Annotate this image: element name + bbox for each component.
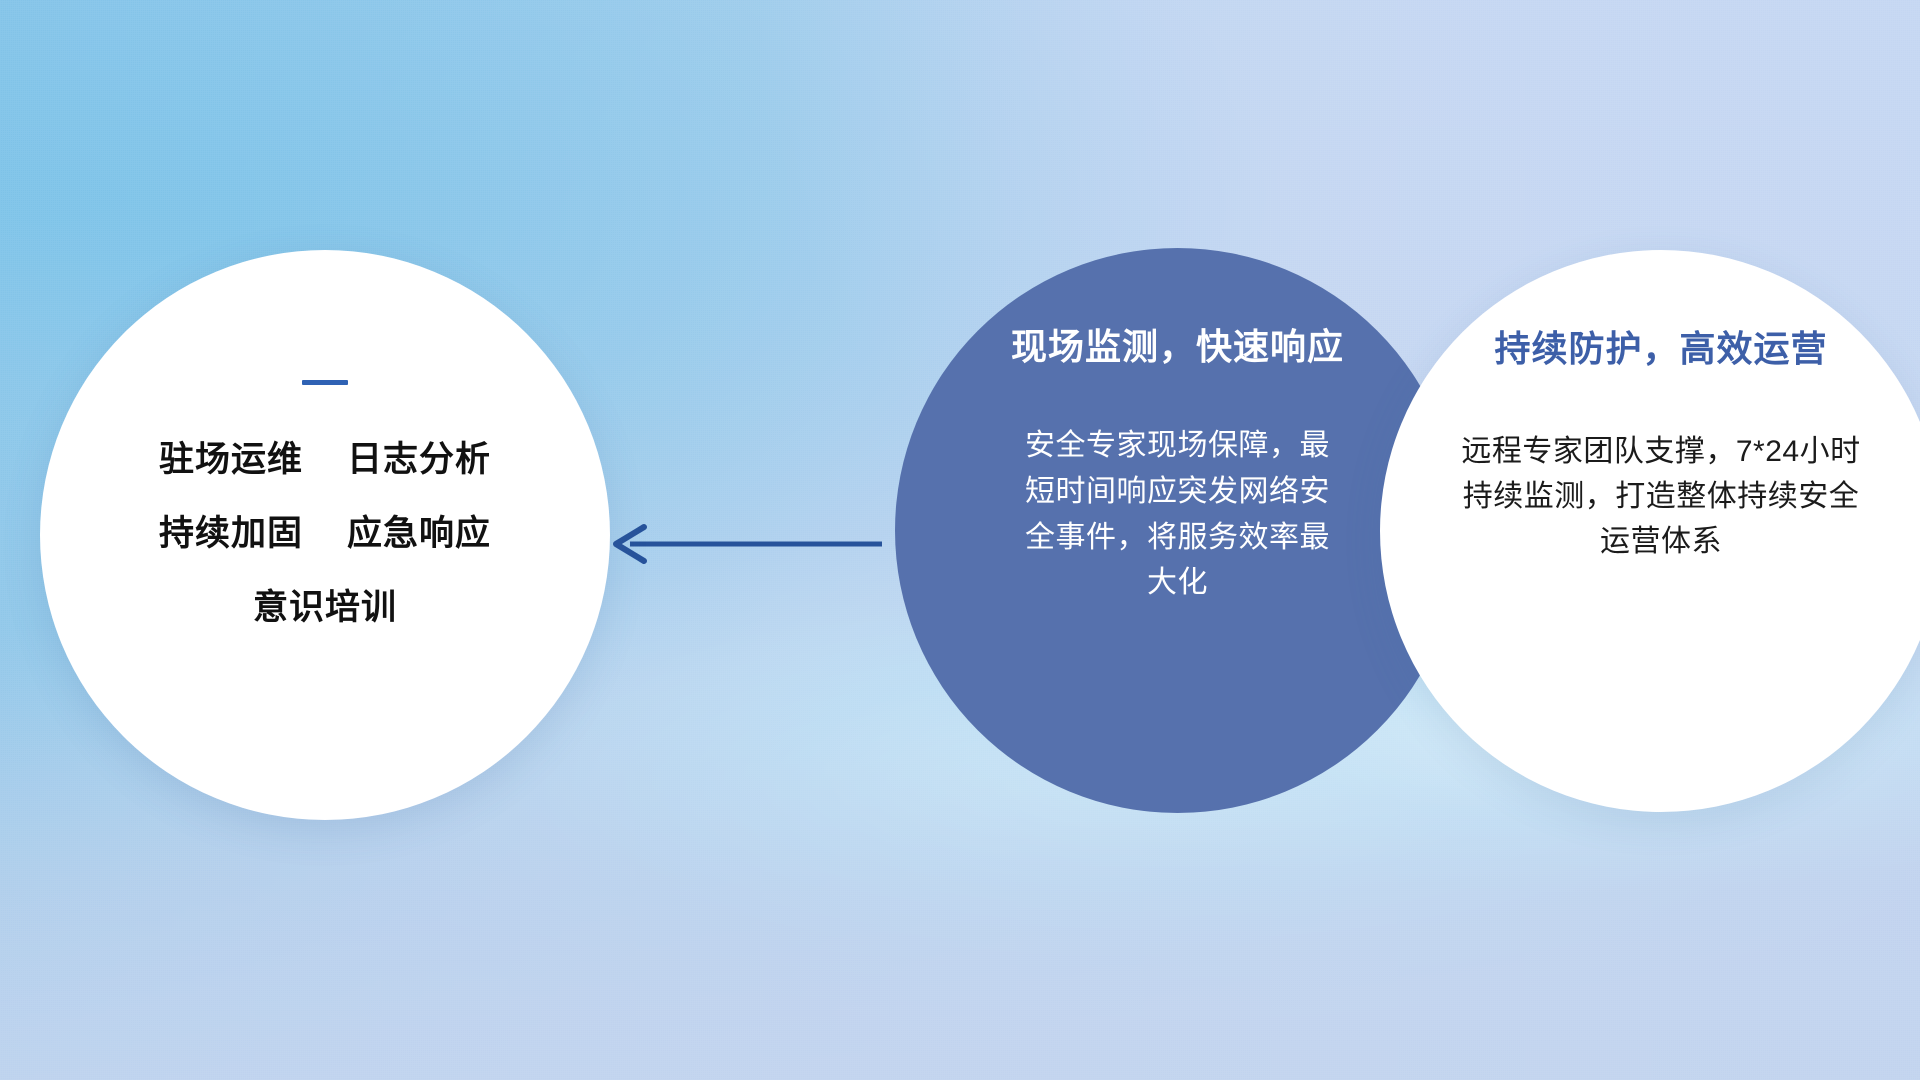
keyword-item: 应急响应 [347,516,491,551]
middle-circle-body: 安全专家现场保障，最短时间响应突发网络安全事件，将服务效率最大化 [1013,423,1343,605]
left-circle-content: 驻场运维 日志分析 持续加固 应急响应 意识培训 [95,380,555,664]
keyword-row: 意识培训 [253,590,397,625]
keyword-row: 持续加固 应急响应 [159,516,491,551]
right-circle-title: 持续防护，高效运营 [1494,328,1827,369]
middle-circle-title: 现场监测，快速响应 [1011,326,1344,367]
keyword-item: 驻场运维 [159,442,303,477]
keyword-item: 持续加固 [159,516,303,551]
right-circle-body: 远程专家团队支撑，7*24小时持续监测，打造整体持续安全运营体系 [1461,429,1861,564]
middle-circle-content: 现场监测，快速响应 安全专家现场保障，最短时间响应突发网络安全事件，将服务效率最… [973,326,1383,606]
middle-onsite-circle[interactable]: 现场监测，快速响应 安全专家现场保障，最短时间响应突发网络安全事件，将服务效率最… [895,248,1460,813]
slide-canvas: 驻场运维 日志分析 持续加固 应急响应 意识培训 现场监测，快速响应 安全专家现… [0,0,1920,1080]
right-operations-circle[interactable]: 持续防护，高效运营 远程专家团队支撑，7*24小时持续监测，打造整体持续安全运营… [1380,250,1920,812]
blue-divider-dash [302,380,348,385]
arrow-pointing-left-icon [600,518,890,570]
left-capability-circle[interactable]: 驻场运维 日志分析 持续加固 应急响应 意识培训 [40,250,610,820]
right-circle-content: 持续防护，高效运营 远程专家团队支撑，7*24小时持续监测，打造整体持续安全运营… [1431,328,1891,564]
keyword-item: 日志分析 [347,442,491,477]
keyword-item: 意识培训 [253,590,397,625]
keyword-row: 驻场运维 日志分析 [159,442,491,477]
